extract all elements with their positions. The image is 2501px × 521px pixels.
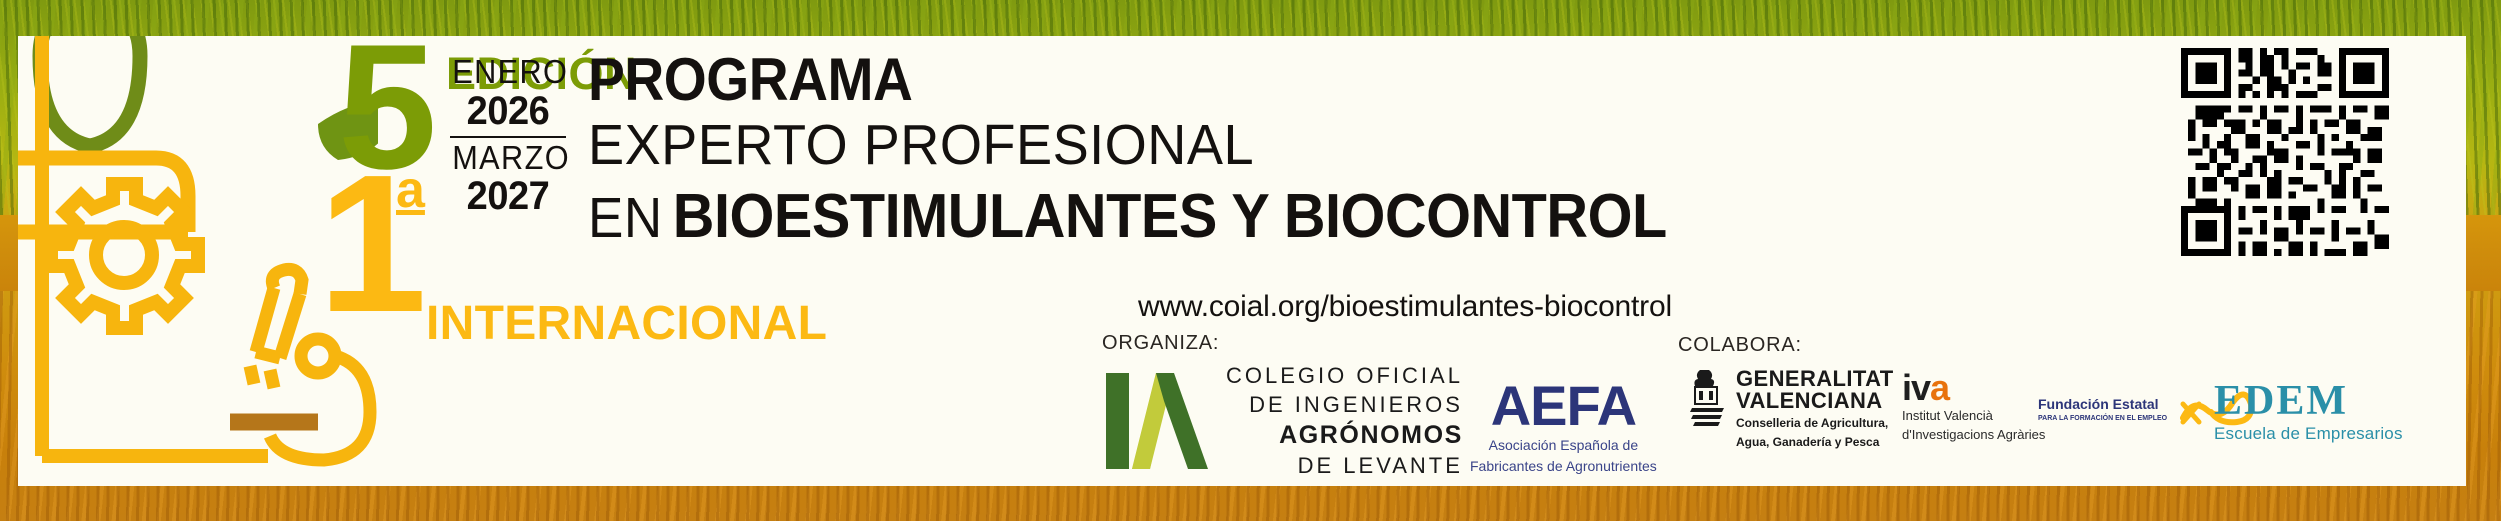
aefa-sub1: Asociación Española de <box>1470 437 1657 455</box>
international-ordinal: a <box>396 160 425 220</box>
title-prefix-en: EN <box>588 185 663 251</box>
fundacion-name: Fundación Estatal PARA LA FORMACIÓN EN E… <box>2038 397 2167 423</box>
ivia-sub1: Institut Valencià <box>1902 408 2045 425</box>
ivia-mark-iv: iv <box>1902 367 1930 408</box>
generalitat-sub2: Agua, Ganadería y Pesca <box>1736 435 1894 450</box>
title-line-experto: EXPERTO PROFESIONAL <box>588 114 1690 178</box>
coial-mark-icon <box>1104 373 1212 469</box>
aefa-sub2: Fabricantes de Agronutrientes <box>1470 458 1657 476</box>
coial-name: COLEGIO OFICIAL DE INGENIEROS AGRÓNOMOS … <box>1226 362 1463 480</box>
fundacion-line2: PARA LA FORMACIÓN EN EL EMPLEO <box>2038 415 2167 423</box>
edem-sub: Escuela de Empresarios <box>2214 424 2403 444</box>
generalitat-line2: VALENCIANA <box>1736 390 1894 412</box>
end-year: 2027 <box>451 175 565 218</box>
fundacion-line1: Fundación Estatal <box>2038 397 2167 412</box>
colabora-section: COLABORA: <box>1678 334 1802 357</box>
colabora-label: COLABORA: <box>1678 334 1802 357</box>
generalitat-sub1: Conselleria de Agricultura, <box>1736 416 1894 431</box>
banner-root: 5 EDICIÓN 1 a INTERNACIONAL ENERO 2026 M… <box>0 0 2501 521</box>
gear-icon <box>51 184 198 328</box>
white-content-card: 5 EDICIÓN 1 a INTERNACIONAL ENERO 2026 M… <box>18 36 2466 486</box>
logo-strip: ORGANIZA: COLABORA: COLEGIO OFICIAL DE I… <box>18 332 2466 486</box>
coial-line3: AGRÓNOMOS <box>1226 419 1463 452</box>
coial-line4: DE LEVANTE <box>1226 452 1463 481</box>
program-url[interactable]: www.coial.org/bioestimulantes-biocontrol <box>1138 290 1672 324</box>
edem-mark: EDEM <box>2214 380 2403 422</box>
coial-logo[interactable]: COLEGIO OFICIAL DE INGENIEROS AGRÓNOMOS … <box>1104 362 1463 480</box>
organiza-section: ORGANIZA: <box>1102 332 1219 355</box>
aefa-logo[interactable]: AEFA Asociación Española de Fabricantes … <box>1470 378 1657 475</box>
program-title: PROGRAMA EXPERTO PROFESIONAL EN BIOESTIM… <box>588 48 1748 252</box>
edem-logo[interactable]: EDEM Escuela de Empresarios <box>2214 380 2403 444</box>
generalitat-logo[interactable]: GENERALITAT VALENCIANA Conselleria de Ag… <box>1686 368 1894 450</box>
generalitat-line1: GENERALITAT <box>1736 368 1894 390</box>
ivia-mark: iva <box>1902 370 2045 406</box>
generalitat-shield-icon <box>1686 368 1728 430</box>
ivia-mark-a: a <box>1930 367 1949 408</box>
title-line-subject: EN BIOESTIMULANTES Y BIOCONTROL <box>588 181 1667 252</box>
coial-line1: COLEGIO OFICIAL <box>1226 362 1463 391</box>
coial-line2: DE INGENIEROS <box>1226 391 1463 420</box>
title-subject: BIOESTIMULANTES Y BIOCONTROL <box>673 181 1667 252</box>
end-month: MARZO <box>452 140 564 176</box>
organiza-label: ORGANIZA: <box>1102 332 1219 355</box>
course-dates: ENERO 2026 MARZO 2027 <box>448 54 568 219</box>
qr-code[interactable] <box>2181 48 2389 256</box>
generalitat-name: GENERALITAT VALENCIANA Conselleria de Ag… <box>1736 368 1894 450</box>
title-line-programa: PROGRAMA <box>588 48 1655 112</box>
start-month: ENERO <box>452 54 564 90</box>
ivia-sub2: d'Investigacions Agràries <box>1902 427 2045 444</box>
ivia-logo[interactable]: iva Institut Valencià d'Investigacions A… <box>1902 370 2045 443</box>
aefa-mark: AEFA <box>1470 378 1657 434</box>
start-year: 2026 <box>451 90 565 133</box>
date-divider <box>450 136 566 138</box>
